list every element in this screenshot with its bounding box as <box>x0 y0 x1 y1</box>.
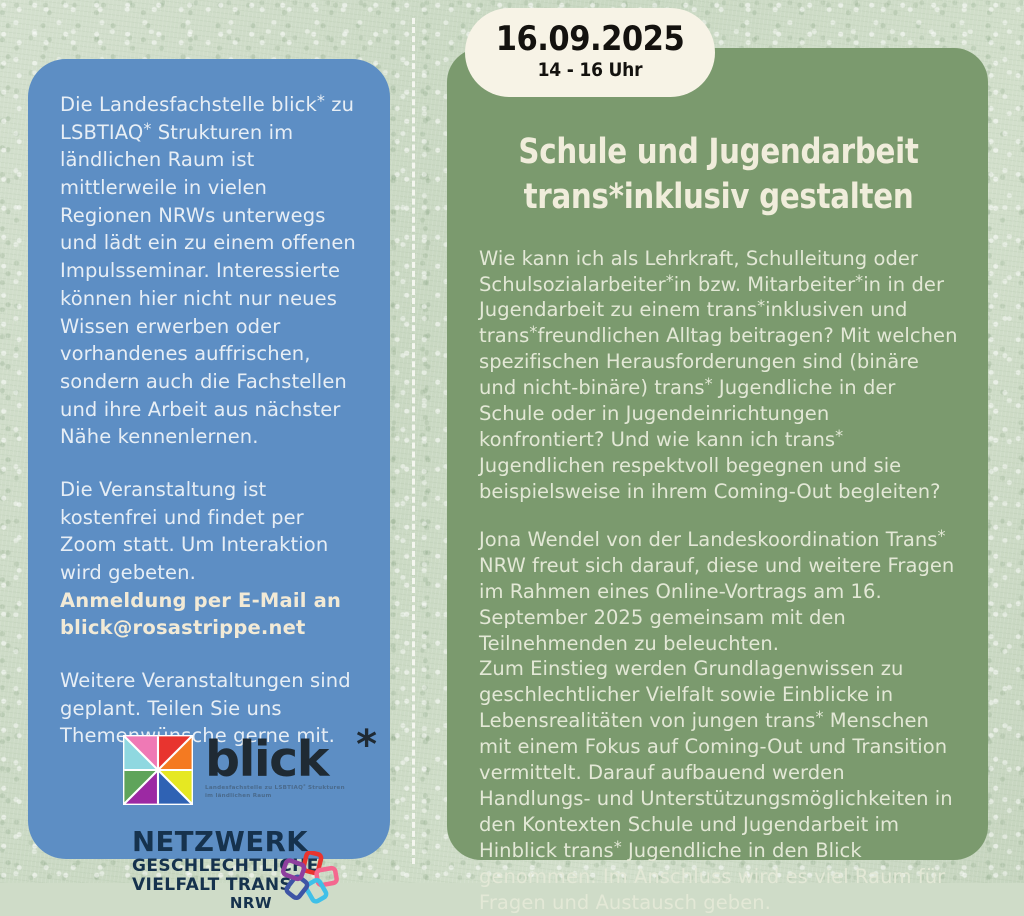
blick-logo: blick * Landesfachstelle zu LSBTIAQ* Str… <box>123 735 355 805</box>
left-paragraph-2: Die Veranstaltung ist kostenfrei und fin… <box>60 476 358 642</box>
right-paragraph-1: Wie kann ich als Lehrkraft, Schulleitung… <box>479 246 958 505</box>
blick-wordmark: blick * Landesfachstelle zu LSBTIAQ* Str… <box>205 737 355 800</box>
event-title-line-2: trans*inklusiv gestalten <box>524 177 914 217</box>
event-time: 14 - 16 Uhr <box>538 59 643 83</box>
right-paragraph-3: Zum Einstieg werden Grundlagenwissen zu … <box>479 656 958 915</box>
right-paragraph-2: Jona Wendel von der Landeskoordination T… <box>479 527 958 657</box>
blick-asterisk-icon: * <box>356 725 377 765</box>
left-panel-text: Die Landesfachstelle blick* zu LSBTIAQ* … <box>60 91 358 750</box>
blick-pinwheel-icon <box>123 735 193 805</box>
left-info-panel: Die Landesfachstelle blick* zu LSBTIAQ* … <box>28 59 390 859</box>
right-content-panel: Schule und Jugendarbeit trans*inklusiv g… <box>447 48 988 860</box>
netzwerk-logo: NETZWERK GESCHLECHTLICHE VIELFALT TRANS … <box>132 829 332 907</box>
blick-name: blick <box>205 737 355 782</box>
event-date-badge: 16.09.2025 14 - 16 Uhr <box>465 8 715 97</box>
event-title: Schule und Jugendarbeit trans*inklusiv g… <box>496 130 941 220</box>
left-paragraph-2-text: Die Veranstaltung ist kostenfrei und fin… <box>60 478 328 584</box>
left-paragraph-1: Die Landesfachstelle blick* zu LSBTIAQ* … <box>60 91 358 451</box>
event-title-line-1: Schule und Jugendarbeit <box>518 132 918 172</box>
right-panel-text: Wie kann ich als Lehrkraft, Schulleitung… <box>479 246 958 916</box>
blick-subtitle: Landesfachstelle zu LSBTIAQ* Strukturen … <box>205 785 355 800</box>
vertical-dashed-divider <box>412 18 415 864</box>
event-date: 16.09.2025 <box>496 22 685 58</box>
registration-email-highlight: Anmeldung per E-Mail an blick@rosastripp… <box>60 587 358 642</box>
netzwerk-pinwheel-icon <box>280 851 342 907</box>
netzwerk-line-3: NRW <box>132 895 272 912</box>
